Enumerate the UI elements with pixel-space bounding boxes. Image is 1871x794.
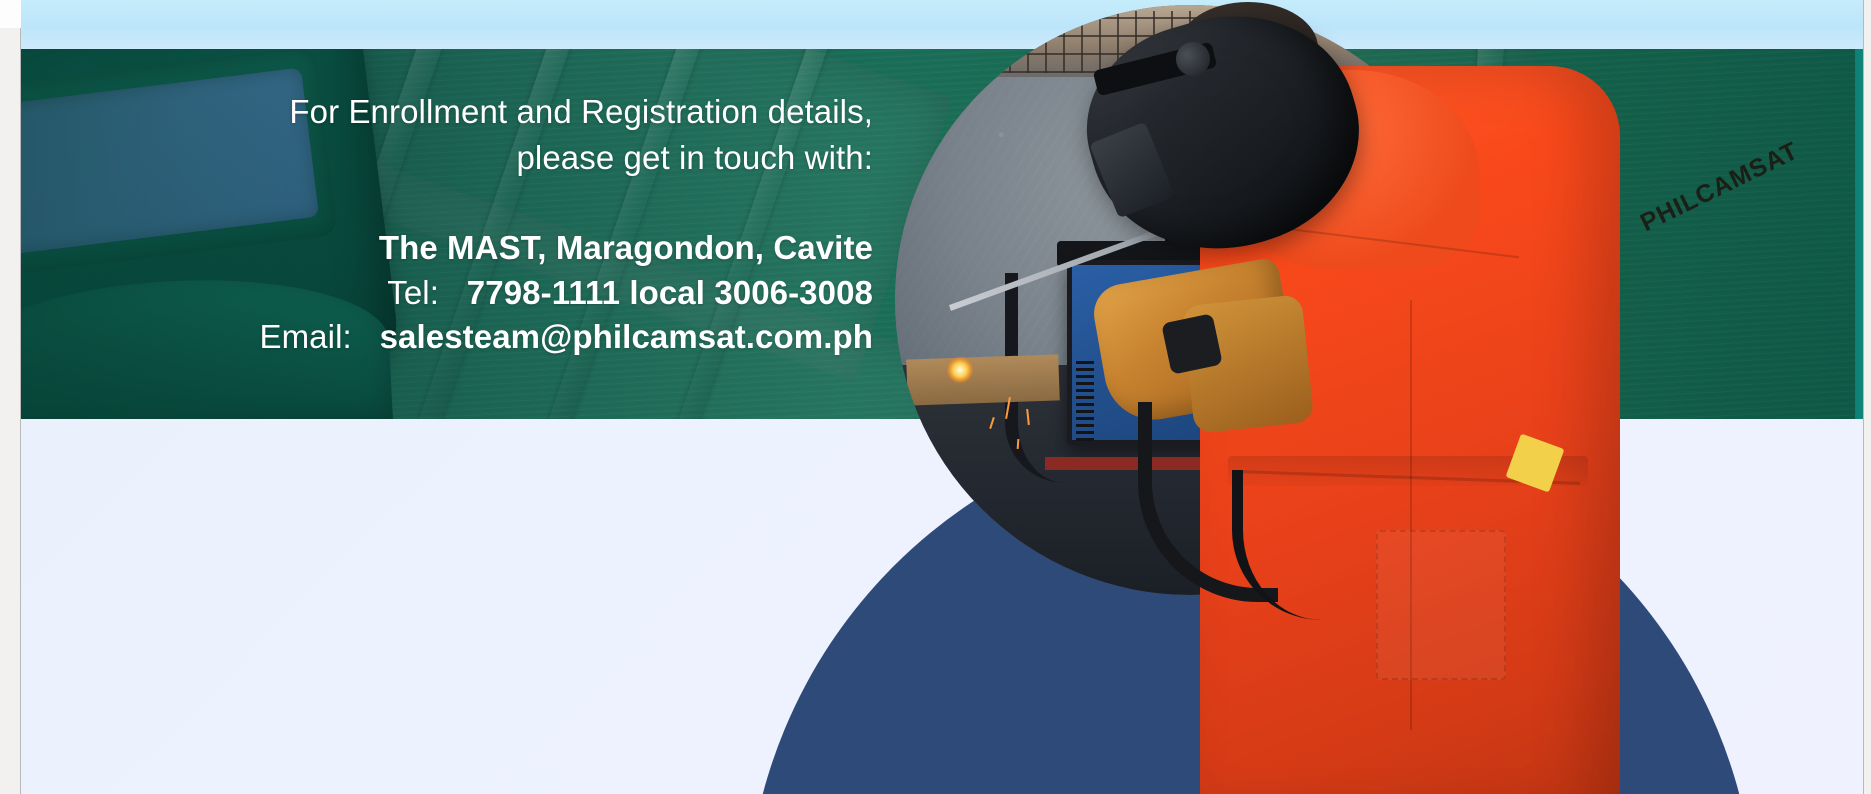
contact-details: The MAST, Maragondon, Cavite Tel: 7798-1… <box>0 226 873 360</box>
page-gutter-left <box>0 0 21 794</box>
page-gutter-right <box>1863 0 1871 794</box>
telephone-label: Tel: <box>387 274 439 311</box>
telephone-value: 7798-1111 local 3006-3008 <box>467 274 873 311</box>
email-value[interactable]: salesteam@philcamsat.com.ph <box>380 318 873 355</box>
email-line: Email: salesteam@philcamsat.com.ph <box>0 315 873 360</box>
intro-line-2: please get in touch with: <box>0 135 873 181</box>
telephone-line: Tel: 7798-1111 local 3006-3008 <box>0 271 873 316</box>
coverall-pocket <box>1376 530 1506 680</box>
email-label: Email: <box>259 318 351 355</box>
contact-copy-block: For Enrollment and Registration details,… <box>0 49 895 419</box>
intro-text: For Enrollment and Registration details,… <box>0 89 873 180</box>
page-gutter-left-top <box>0 0 21 28</box>
metal-workpiece <box>906 354 1060 405</box>
welding-glove-grip <box>1161 313 1223 375</box>
organization-line: The MAST, Maragondon, Cavite <box>0 226 873 271</box>
intro-line-1: For Enrollment and Registration details, <box>0 89 873 135</box>
slide-canvas: Miller PHILCAMSAT <box>0 0 1871 794</box>
welder-person: PHILCAMSAT <box>1080 0 1640 794</box>
welding-arc-spark <box>947 357 973 383</box>
